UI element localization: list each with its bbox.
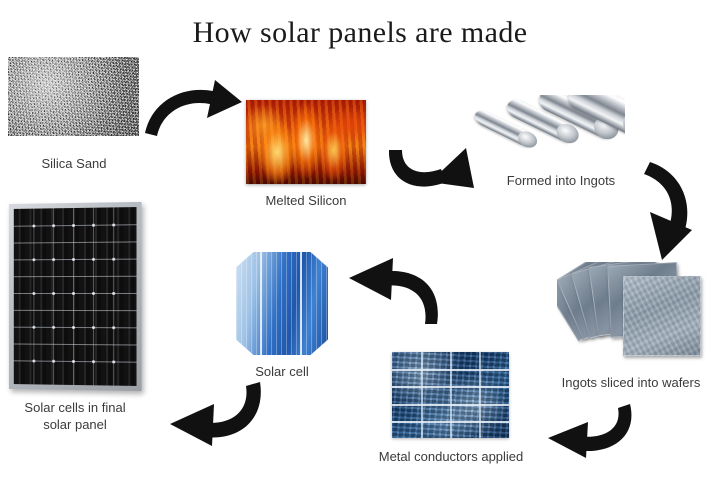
solar-cell-shape: [236, 252, 328, 355]
page-title: How solar panels are made: [0, 16, 720, 50]
sliced-wafers-label: Ingots sliced into wafers: [542, 374, 720, 391]
solar-cell-image: [236, 252, 328, 355]
wafer-6: [623, 276, 701, 356]
conductor-line-v-3: [479, 352, 481, 438]
melted-silicon-label: Melted Silicon: [236, 192, 376, 209]
conductor-line-v-2: [450, 352, 452, 438]
cell-busbar-2: [300, 252, 302, 355]
cell-busbar-1: [260, 252, 262, 355]
arrow-conductors-to-cell: [341, 256, 445, 330]
panel-cell-grid: [14, 207, 137, 386]
silica-sand-image: [8, 57, 139, 136]
arrow-ingots-to-wafers: [616, 160, 712, 268]
conductor-line-v-1: [421, 352, 423, 438]
ingots-image: [470, 95, 625, 163]
arrow-wafers-to-conductors: [530, 402, 636, 464]
silica-sand-label: Silica Sand: [0, 155, 148, 172]
arrow-sand-to-silicon: [141, 78, 251, 150]
wafers-image: [557, 262, 712, 368]
infographic-canvas: How solar panels are made Silica Sand Me…: [0, 0, 720, 478]
final-panel-label: Solar cells in final solar panel: [0, 399, 150, 433]
melted-silicon-image: [246, 100, 366, 184]
metal-conductors-label: Metal conductors applied: [363, 448, 539, 465]
metal-conductors-image: [392, 352, 509, 438]
arrow-cell-to-panel: [160, 378, 266, 458]
final-solar-panel-image: [9, 202, 142, 391]
